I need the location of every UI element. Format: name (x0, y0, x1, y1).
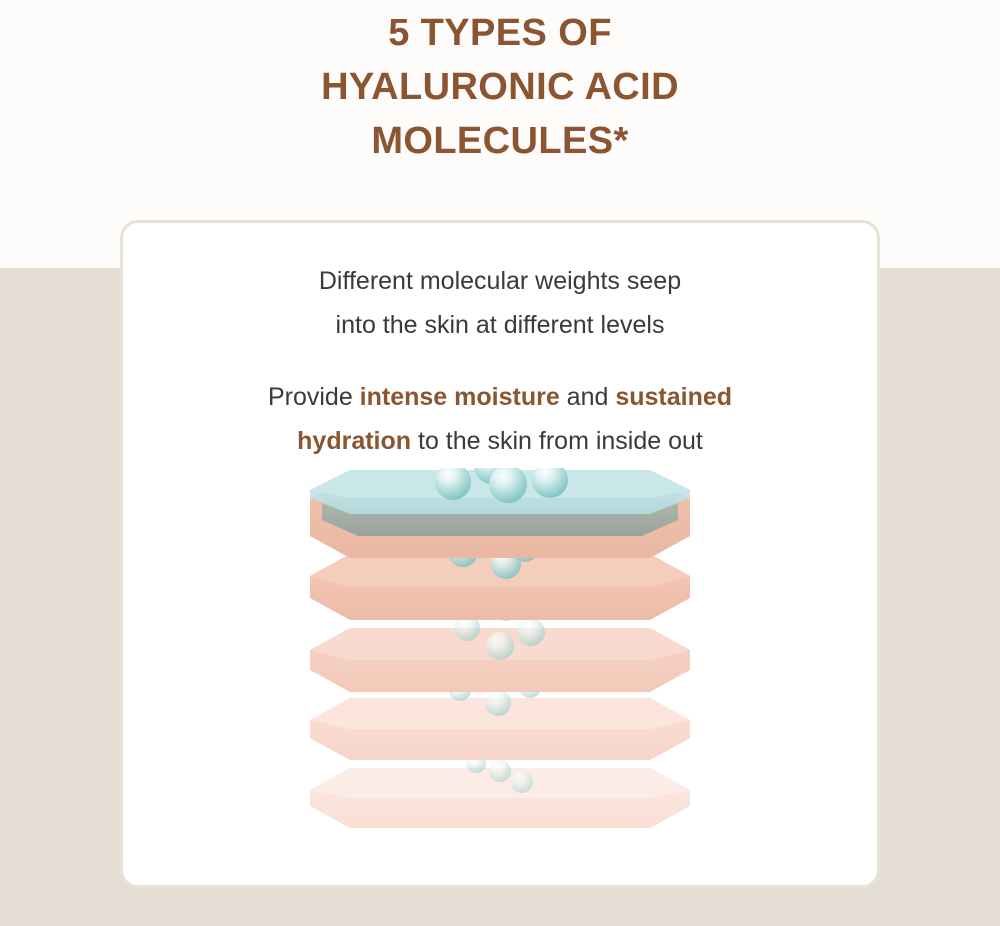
skin-layers-svg (310, 468, 690, 868)
description-line-1: Different molecular weights seep (123, 259, 877, 303)
page-title-line-1: 5 TYPES OF (0, 6, 1000, 60)
page-title-line-2: HYALURONIC ACID (0, 60, 1000, 114)
benefit-highlight-3: hydration (297, 427, 411, 455)
description-line-2: into the skin at different levels (123, 303, 877, 347)
card-text-block: Different molecular weights seep into th… (123, 259, 877, 463)
benefit-line-1: Provide intense moisture and sustained (123, 375, 877, 419)
benefit-line-2: hydration to the skin from inside out (123, 419, 877, 463)
bubble-group-1 (435, 468, 568, 503)
benefit-text-2: and (560, 383, 616, 411)
benefit-paragraph: Provide intense moisture and sustained h… (123, 375, 877, 463)
benefit-text-1: Provide (268, 383, 360, 411)
description-paragraph: Different molecular weights seep into th… (123, 259, 877, 347)
page-title-line-3: MOLECULES* (0, 114, 1000, 168)
info-card: Different molecular weights seep into th… (120, 220, 880, 888)
benefit-text-3: to the skin from inside out (411, 427, 703, 455)
skin-layers-illustration (123, 468, 877, 868)
page-title: 5 TYPES OF HYALURONIC ACID MOLECULES* (0, 0, 1000, 168)
benefit-highlight-2: sustained (615, 383, 732, 411)
benefit-highlight-1: intense moisture (360, 383, 560, 411)
